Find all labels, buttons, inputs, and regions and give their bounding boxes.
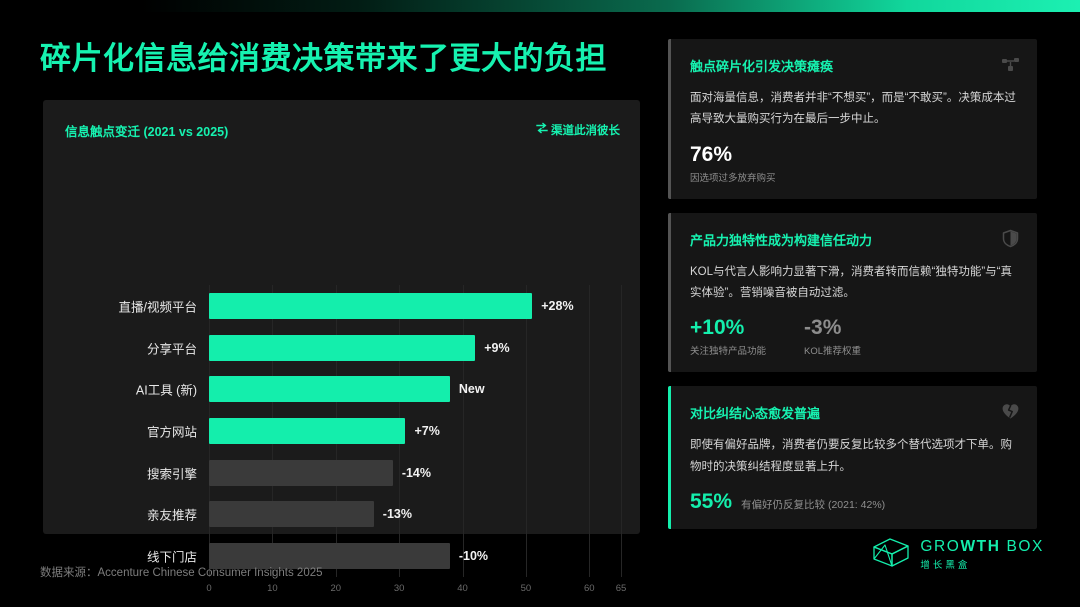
chart-bar-row: 亲友推荐-13% xyxy=(209,501,621,527)
bar-category-label: 搜索引擎 xyxy=(147,463,197,482)
card-stats: +10%关注独特产品功能-3%KOL推荐权重 xyxy=(690,316,1017,357)
chart-gridline xyxy=(621,285,622,577)
share-network-icon xyxy=(1001,55,1020,74)
stat-value: -3% xyxy=(804,316,861,340)
stat-block: 55%有偏好仍反复比较 (2021: 42%) xyxy=(690,490,885,514)
insight-card[interactable]: 触点碎片化引发决策瘫痪面对海量信息，消费者并非“不想买”，而是“不敢买”。决策成… xyxy=(668,39,1037,199)
bar-value-label: -13% xyxy=(383,507,412,521)
x-axis-tick: 65 xyxy=(616,583,627,594)
chart-bar-row: 官方网站+7% xyxy=(209,418,621,444)
x-axis-tick: 40 xyxy=(457,583,468,594)
card-stats: 55%有偏好仍反复比较 (2021: 42%) xyxy=(690,490,1017,514)
stat-caption: 因选项过多放弃购买 xyxy=(690,170,776,184)
chart-bar-row: 搜索引擎-14% xyxy=(209,460,621,486)
chart-bar[interactable] xyxy=(209,501,374,527)
x-axis-tick: 10 xyxy=(267,583,278,594)
card-title: 对比纠结心态愈发普遍 xyxy=(690,403,1017,422)
swap-arrows-icon xyxy=(536,122,548,138)
card-body-text: 即使有偏好品牌，消费者仍要反复比较多个替代选项才下单。购物时的决策纠结程度显著上… xyxy=(690,435,1017,478)
card-title: 产品力独特性成为构建信任动力 xyxy=(690,230,1017,249)
stat-caption: 有偏好仍反复比较 (2021: 42%) xyxy=(741,497,885,512)
x-axis-tick: 30 xyxy=(394,583,405,594)
insight-cards: 触点碎片化引发决策瘫痪面对海量信息，消费者并非“不想买”，而是“不敢买”。决策成… xyxy=(668,39,1037,543)
broken-heart-icon xyxy=(1001,402,1020,421)
shield-icon xyxy=(1001,229,1020,248)
stat-value: 55% xyxy=(690,490,732,514)
stat-value: +10% xyxy=(690,316,766,340)
logo-text-en: GROWTH BOX xyxy=(920,538,1044,556)
bar-value-label: +9% xyxy=(484,341,509,355)
chart-bar-row: 分享平台+9% xyxy=(209,335,621,361)
stat-caption: KOL推荐权重 xyxy=(804,343,861,357)
bar-value-label: New xyxy=(459,382,485,396)
chart-trend-badge: 渠道此消彼长 xyxy=(536,122,620,138)
chart-bar[interactable] xyxy=(209,460,393,486)
x-axis-tick: 50 xyxy=(521,583,532,594)
chart-bar-row: AI工具 (新)New xyxy=(209,376,621,402)
insight-card[interactable]: 产品力独特性成为构建信任动力KOL与代言人影响力显著下滑，消费者转而信赖“独特功… xyxy=(668,213,1037,373)
stat-block: -3%KOL推荐权重 xyxy=(804,316,861,357)
chart-panel: 信息触点变迁 (2021 vs 2025) 渠道此消彼长 01020304050… xyxy=(43,100,640,534)
bar-value-label: -10% xyxy=(459,549,488,563)
chart-title: 信息触点变迁 (2021 vs 2025) xyxy=(65,121,228,140)
bar-category-label: AI工具 (新) xyxy=(136,380,197,399)
chart-bar-row: 直播/视频平台+28% xyxy=(209,293,621,319)
logo-en-light: GRO xyxy=(920,538,960,555)
open-box-icon xyxy=(871,535,911,574)
chart-badge-label: 渠道此消彼长 xyxy=(551,122,620,138)
card-stats: 76%因选项过多放弃购买 xyxy=(690,143,1017,184)
logo-en-bold: WTH xyxy=(960,538,1000,555)
stat-block: 76%因选项过多放弃购买 xyxy=(690,143,776,184)
x-axis-tick: 20 xyxy=(330,583,341,594)
logo-wordmark: GROWTH BOX 增长黑盒 xyxy=(920,538,1044,572)
card-body-text: 面对海量信息，消费者并非“不想买”，而是“不敢买”。决策成本过高导致大量购买行为… xyxy=(690,88,1017,131)
chart-bar[interactable] xyxy=(209,293,532,319)
logo-en-tail: BOX xyxy=(1001,538,1044,555)
bar-category-label: 直播/视频平台 xyxy=(119,296,197,315)
bar-value-label: +28% xyxy=(541,299,573,313)
page-title: 碎片化信息给消费决策带来了更大的负担 xyxy=(40,33,607,78)
bar-category-label: 官方网站 xyxy=(147,422,197,441)
insight-card[interactable]: 对比纠结心态愈发普遍即使有偏好品牌，消费者仍要反复比较多个替代选项才下单。购物时… xyxy=(668,386,1037,529)
top-gradient-bar xyxy=(0,0,1080,12)
card-body-text: KOL与代言人影响力显著下滑，消费者转而信赖“独特功能”与“真实体验”。营销噪音… xyxy=(690,262,1017,305)
chart-bar[interactable] xyxy=(209,418,405,444)
brand-logo: GROWTH BOX 增长黑盒 xyxy=(871,535,1044,574)
x-axis-tick: 60 xyxy=(584,583,595,594)
chart-header: 信息触点变迁 (2021 vs 2025) 渠道此消彼长 xyxy=(65,121,620,141)
card-title: 触点碎片化引发决策瘫痪 xyxy=(690,56,1017,75)
logo-text-cn: 增长黑盒 xyxy=(920,557,1044,571)
bar-category-label: 亲友推荐 xyxy=(147,505,197,524)
bar-value-label: -14% xyxy=(402,466,431,480)
chart-bar[interactable] xyxy=(209,335,475,361)
bar-category-label: 分享平台 xyxy=(147,338,197,357)
bar-value-label: +7% xyxy=(414,424,439,438)
x-axis-tick: 0 xyxy=(206,583,211,594)
stat-value: 76% xyxy=(690,143,776,167)
source-note: 数据来源：Accenture Chinese Consumer Insights… xyxy=(40,564,323,580)
chart-bar[interactable] xyxy=(209,376,450,402)
stat-caption: 关注独特产品功能 xyxy=(690,343,766,357)
slide-root: 碎片化信息给消费决策带来了更大的负担 信息触点变迁 (2021 vs 2025)… xyxy=(0,0,1080,607)
chart-plot-area: 010203040506065直播/视频平台+28%分享平台+9%AI工具 (新… xyxy=(209,285,621,590)
stat-block: +10%关注独特产品功能 xyxy=(690,316,766,357)
bar-category-label: 线下门店 xyxy=(147,547,197,566)
